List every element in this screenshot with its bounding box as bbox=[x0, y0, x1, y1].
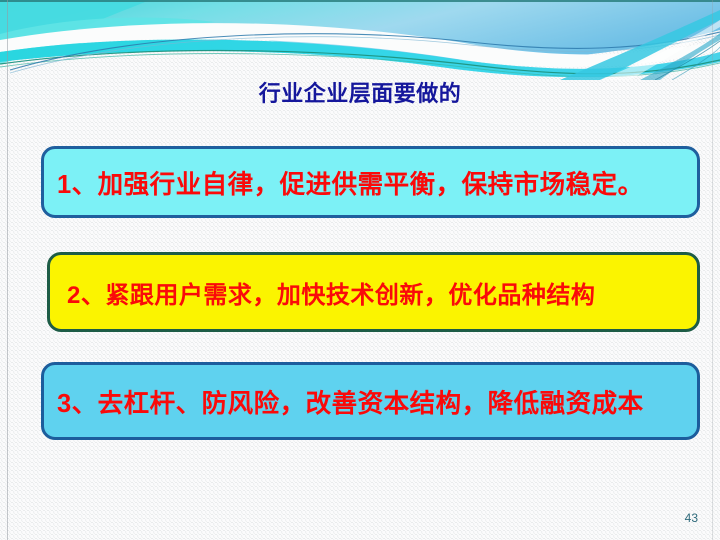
callout-box-3-text: 3、去杠杆、防风险，改善资本结构，降低融资成本 bbox=[57, 383, 684, 420]
page-title: 行业企业层面要做的 bbox=[0, 76, 720, 108]
page-number: 43 bbox=[685, 511, 698, 525]
callout-box-2-text: 2、紧跟用户需求，加快技术创新，优化品种结构 bbox=[67, 275, 680, 310]
presentation-slide: 行业企业层面要做的 1、加强行业自律，促进供需平衡，保持市场稳定。 2、紧跟用户… bbox=[0, 0, 720, 540]
decorative-wave-banner-icon bbox=[0, 0, 720, 80]
callout-box-1-text: 1、加强行业自律，促进供需平衡，保持市场稳定。 bbox=[57, 164, 684, 201]
callout-box-1: 1、加强行业自律，促进供需平衡，保持市场稳定。 bbox=[41, 146, 700, 218]
callout-box-2: 2、紧跟用户需求，加快技术创新，优化品种结构 bbox=[47, 252, 700, 332]
callout-box-3: 3、去杠杆、防风险，改善资本结构，降低融资成本 bbox=[41, 362, 700, 440]
